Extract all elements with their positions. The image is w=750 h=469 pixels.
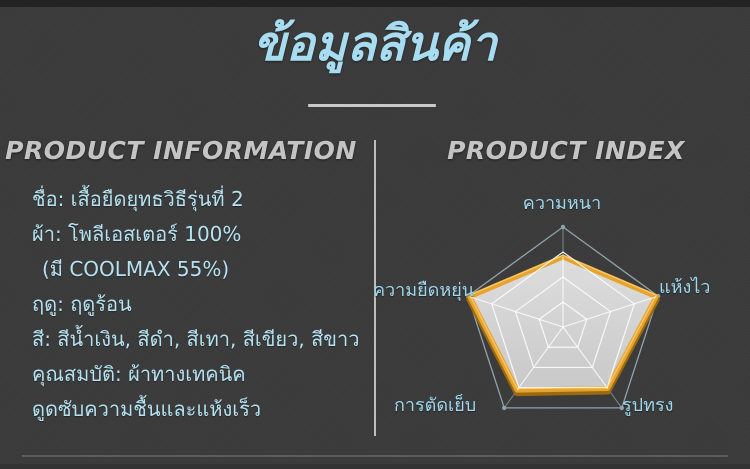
title-underline-rule — [308, 104, 436, 107]
list-item: คุณสมบัติ: ผ้าทางเทคนิค — [32, 357, 372, 392]
list-item: ชื่อ: เสื้อยืดยุทธวิธีรุ่นที่ 2 — [32, 182, 372, 217]
product-index-panel: PRODUCT INDEX ความหนา แห้งไว รูปทรง การต… — [374, 136, 750, 456]
product-spec-list: ชื่อ: เสื้อยืดยุทธวิธีรุ่นที่ 2 ผ้า: โพล… — [32, 182, 372, 427]
axis-label-thickness: ความหนา — [374, 194, 750, 214]
top-band — [0, 0, 750, 7]
list-item: ดูดซับความชื้นและแห้งเร็ว — [32, 392, 372, 427]
list-item: ฤดู: ฤดูร้อน — [32, 287, 372, 322]
radar-series — [470, 252, 658, 394]
axis-label-quick-dry: แห้งไว — [659, 278, 710, 298]
product-information-panel: PRODUCT INFORMATION ชื่อ: เสื้อยืดยุทธวิ… — [0, 136, 374, 456]
axis-label-elasticity: ความยืดหยุ่น — [373, 281, 474, 301]
list-item: ผ้า: โพลีเอสเตอร์ 100% — [32, 217, 372, 252]
axis-label-tailoring: การตัดเย็บ — [394, 396, 476, 416]
bottom-band — [0, 464, 750, 469]
radar-chart: ความหนา แห้งไว รูปทรง การตัดเย็บ ความยืด… — [374, 136, 750, 456]
list-item: (มี COOLMAX 55%) — [32, 252, 372, 287]
list-item: สี: สีน้ำเงิน, สีดำ, สีเทา, สีเขียว, สีข… — [32, 322, 372, 357]
axis-label-shape: รูปทรง — [622, 396, 673, 416]
page-title: ข้อมูลสินค้า — [0, 14, 750, 74]
product-info-banner: ข้อมูลสินค้า PRODUCT INFORMATION ชื่อ: เ… — [0, 0, 750, 469]
product-information-heading: PRODUCT INFORMATION — [0, 136, 374, 165]
